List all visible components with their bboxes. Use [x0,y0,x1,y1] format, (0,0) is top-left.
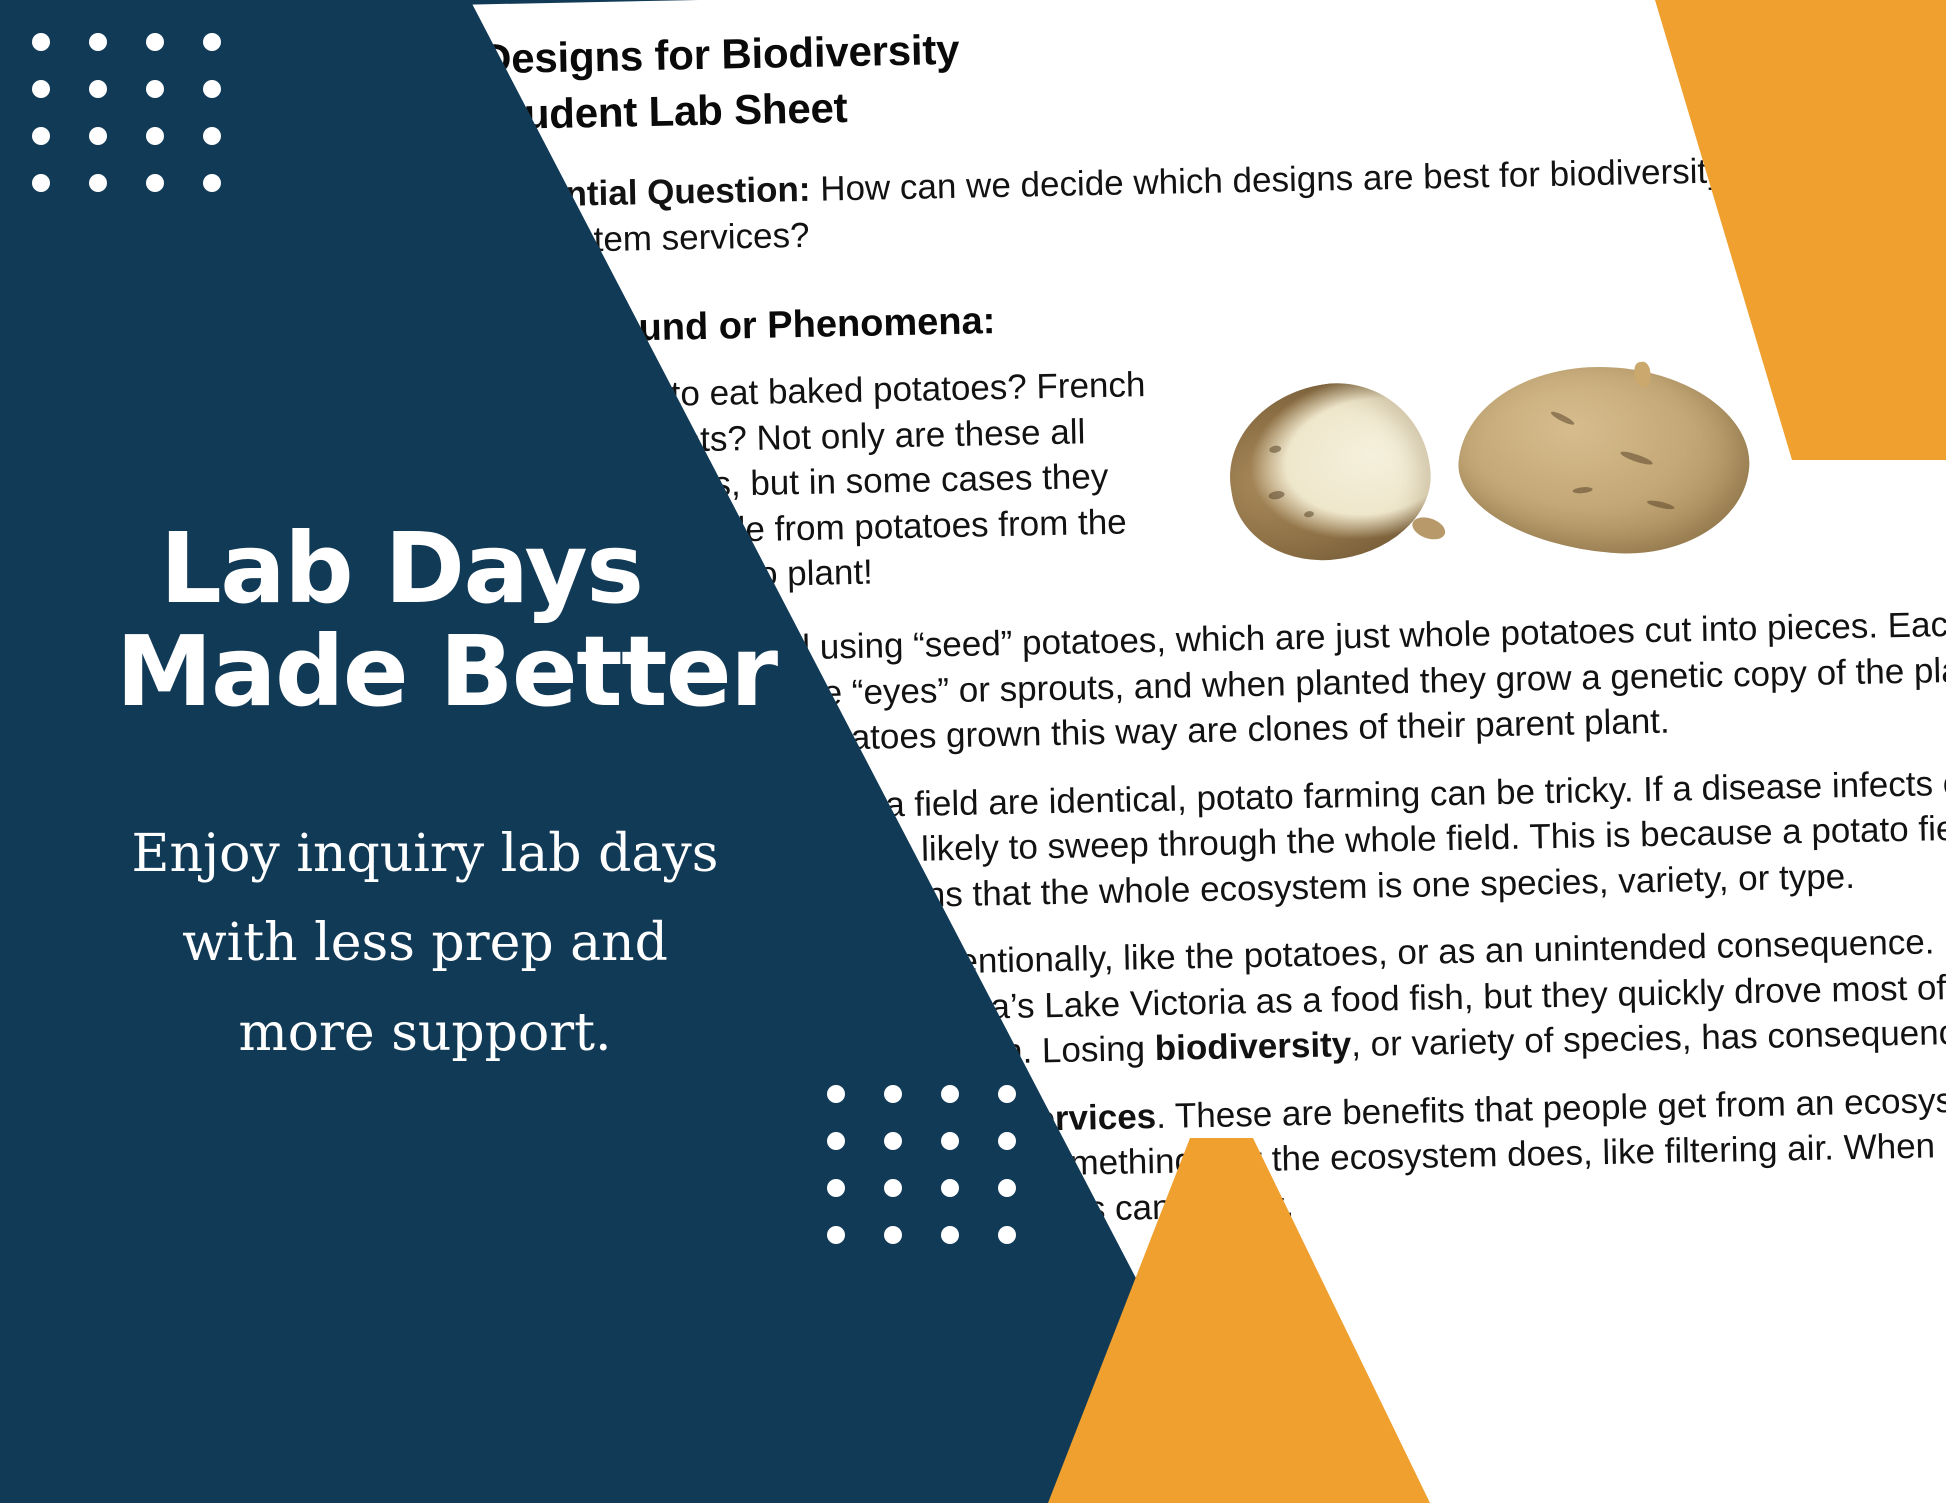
decorative-dot [203,174,221,192]
subcopy-line-3: more support. [30,989,820,1078]
potato-whole [1452,355,1757,564]
subcopy-line-2: with less prep and [30,899,820,988]
decorative-dot [884,1085,902,1103]
decorative-dot [32,33,50,51]
subcopy-line-1: Enjoy inquiry lab days [30,810,820,899]
essential-question: Essential Question: How can we decide wh… [483,145,1905,264]
decorative-dot [203,33,221,51]
decorative-dot [146,127,164,145]
decorative-dot [827,1085,845,1103]
decorative-dot [941,1132,959,1150]
decorative-dot [998,1179,1016,1197]
decorative-dot [203,80,221,98]
decorative-dot [998,1226,1016,1244]
decorative-dot [89,80,107,98]
seed-potato-photo [1217,354,1782,595]
decorative-dot [146,174,164,192]
decorative-dot [827,1226,845,1244]
decorative-dot [998,1085,1016,1103]
decorative-dot [89,127,107,145]
decorative-dot [827,1179,845,1197]
paragraph-biodiversity-b: , or variety of species, has consequence… [1351,1012,1946,1064]
decorative-dot [941,1085,959,1103]
potato-cut-half [1217,370,1442,575]
decorative-dot [998,1132,1016,1150]
promo-subcopy: Enjoy inquiry lab days with less prep an… [30,810,820,1078]
decorative-dot [827,1132,845,1150]
term-biodiversity: biodiversity [1154,1025,1351,1068]
decorative-dot [884,1132,902,1150]
decorative-dot [203,127,221,145]
decorative-dot [89,174,107,192]
decorative-dot [146,33,164,51]
decorative-dot [941,1226,959,1244]
decorative-dot [32,80,50,98]
decorative-dot [32,174,50,192]
decorative-dot [884,1179,902,1197]
decorative-dot [89,33,107,51]
page-title: Lab Days Made Better [160,518,920,724]
headline-line-2: Made Better [116,621,920,724]
decorative-dot [884,1226,902,1244]
decorative-dot [32,127,50,145]
headline-line-1: Lab Days [160,512,642,625]
poster-canvas: Designs for Biodiversity Student Lab She… [0,0,1946,1503]
decorative-dot [941,1179,959,1197]
dot-grid-top-left [32,33,260,221]
dot-grid-bottom [827,1085,1055,1273]
decorative-dot [146,80,164,98]
